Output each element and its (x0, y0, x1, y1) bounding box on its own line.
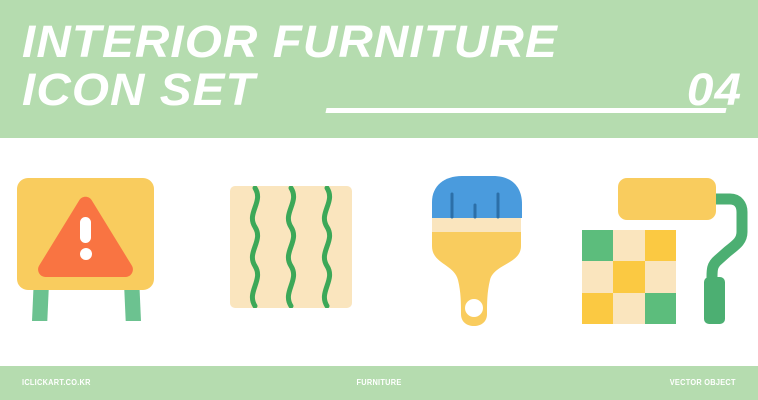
title-underline-rule (325, 108, 726, 113)
icon-stage (0, 138, 758, 366)
exclamation-bar-icon (80, 217, 91, 243)
brush-hole-icon (465, 299, 483, 317)
brush-ferrule-icon (432, 216, 521, 232)
panel-waves-icon (230, 186, 352, 308)
header-banner: INTERIOR FURNITURE ICON SET 04 (0, 0, 758, 138)
footer-category-label: FURNITURE (356, 378, 401, 387)
poster-canvas: INTERIOR FURNITURE ICON SET 04 (0, 0, 758, 400)
set-number-badge: 04 (687, 66, 742, 114)
exclamation-dot-icon (80, 248, 92, 260)
wavy-wall-panel-icon (230, 186, 352, 308)
footer-site-label: ICLICKART.CO.KR (22, 378, 91, 387)
paint-brush-icon (418, 172, 535, 328)
page-title-line-1: INTERIOR FURNITURE (22, 18, 558, 66)
page-title-line-2: ICON SET (22, 66, 256, 114)
warning-sign-icon (17, 178, 173, 313)
footer-type-label: VECTOR OBJECT (670, 378, 736, 387)
icon-cell-warning-sign[interactable] (0, 138, 190, 366)
icon-cell-paint-brush[interactable] (380, 138, 570, 366)
paint-swatch-grid-icon (582, 230, 676, 324)
brush-bristles-icon (432, 176, 522, 218)
roller-barrel-icon (618, 178, 716, 220)
paint-roller-icon (582, 178, 750, 324)
roller-grip-icon (704, 277, 725, 324)
footer-bar: ICLICKART.CO.KR FURNITURE VECTOR OBJECT (0, 366, 758, 400)
icon-cell-paint-roller[interactable] (570, 138, 758, 366)
icon-cell-wavy-panel[interactable] (190, 138, 380, 366)
